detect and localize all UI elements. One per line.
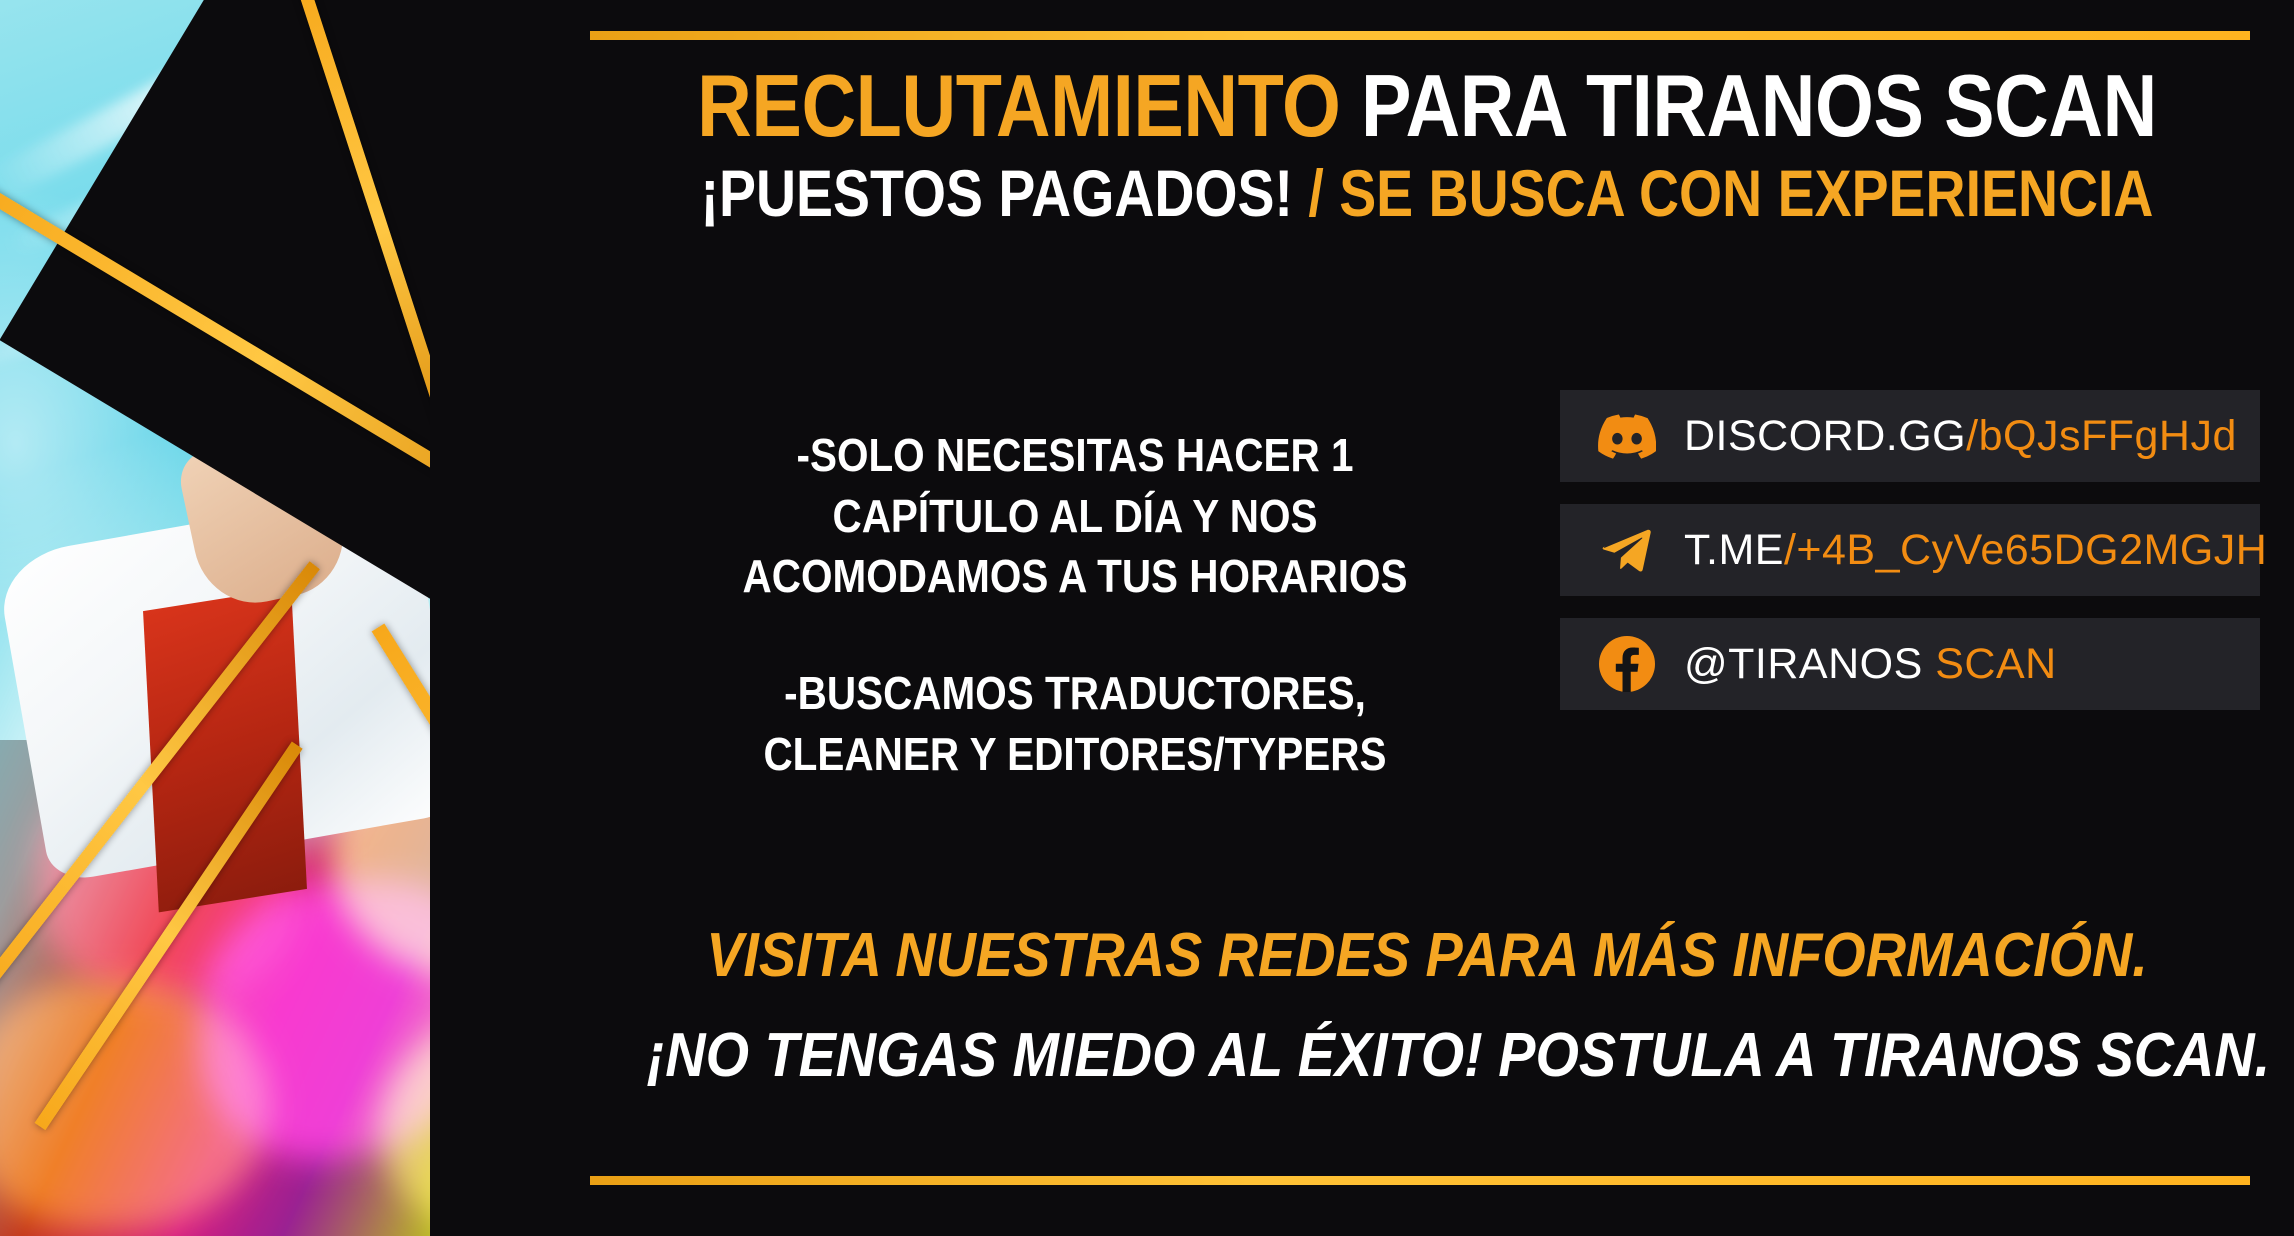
contact-card-discord[interactable]: DISCORD.GG/bQJsFFgHJd [1560, 390, 2260, 482]
telegram-domain: T.ME [1684, 526, 1784, 574]
requirement-item-schedule: -SOLO NECESITAS HACER 1 CAPÍTULO AL DÍA … [727, 425, 1422, 607]
requirements-list: -SOLO NECESITAS HACER 1 CAPÍTULO AL DÍA … [727, 425, 1422, 785]
contact-card-telegram[interactable]: T.ME/+4B_CyVe65DG2MGJH [1560, 504, 2260, 596]
recruitment-banner: RECLUTAMIENTO PARA TIRANOS SCAN ¡PUESTOS… [0, 0, 2294, 1236]
discord-domain: DISCORD.GG [1684, 412, 1966, 460]
page-title: RECLUTAMIENTO PARA TIRANOS SCAN [681, 62, 2172, 150]
telegram-icon [1598, 521, 1656, 579]
discord-icon [1598, 407, 1656, 465]
contact-text-facebook: @TIRANOS SCAN [1684, 640, 2057, 689]
title-main: PARA TIRANOS SCAN [1361, 56, 2157, 155]
requirement-item-roles: -BUSCAMOS TRADUCTORES, CLEANER Y EDITORE… [727, 663, 1422, 784]
subtitle-separator: / [1293, 156, 1339, 230]
page-subtitle: ¡PUESTOS PAGADOS! / SE BUSCA CON EXPERIE… [699, 160, 2156, 226]
telegram-invite-code: /+4B_CyVe65DG2MGJH [1784, 526, 2267, 574]
gold-rule-top [590, 31, 2250, 40]
artwork-panel [0, 0, 640, 1236]
facebook-handle-suffix: SCAN [1923, 640, 2057, 688]
contact-card-facebook[interactable]: @TIRANOS SCAN [1560, 618, 2260, 710]
gold-rule-bottom [590, 1176, 2250, 1185]
contact-list: DISCORD.GG/bQJsFFgHJd T.ME/+4B_CyVe65DG2… [1560, 390, 2260, 732]
cta-line-apply: ¡NO TENGAS MIEDO AL ÉXITO! POSTULA A TIR… [647, 1020, 2208, 1091]
cta-line-visit: VISITA NUESTRAS REDES PARA MÁS INFORMACI… [647, 920, 2208, 991]
contact-text-telegram: T.ME/+4B_CyVe65DG2MGJH [1684, 526, 2267, 575]
contact-text-discord: DISCORD.GG/bQJsFFgHJd [1684, 412, 2237, 461]
title-highlight: RECLUTAMIENTO [697, 56, 1361, 155]
discord-invite-code: /bQJsFFgHJd [1966, 412, 2237, 460]
subtitle-experience: SE BUSCA CON EXPERIENCIA [1339, 156, 2153, 230]
content-panel: RECLUTAMIENTO PARA TIRANOS SCAN ¡PUESTOS… [560, 0, 2294, 1236]
facebook-handle: @TIRANOS [1684, 640, 1923, 688]
facebook-icon [1598, 635, 1656, 693]
subtitle-paid: ¡PUESTOS PAGADOS! [701, 156, 1293, 230]
